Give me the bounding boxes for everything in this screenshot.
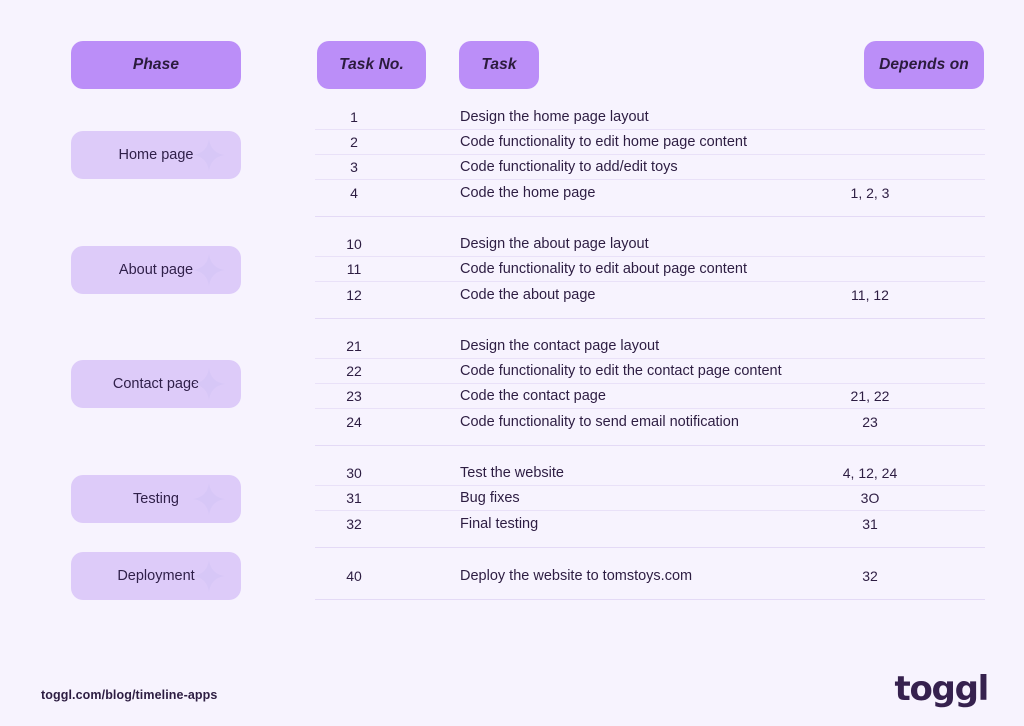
sparkle-icon <box>192 367 226 401</box>
group-divider <box>315 216 985 217</box>
sparkle-icon <box>192 253 226 287</box>
task-group: 40Deploy the website to tomstoys.com32 <box>315 563 985 588</box>
cell-task-no: 22 <box>315 363 405 379</box>
cell-task-no: 11 <box>315 261 405 277</box>
cell-task: Design the about page layout <box>405 236 810 252</box>
cell-depends-on: 3O <box>810 490 930 506</box>
table-row[interactable]: 3Code functionality to add/edit toys <box>315 155 985 180</box>
cell-task-no: 31 <box>315 490 405 506</box>
cell-task-no: 12 <box>315 287 405 303</box>
cell-task: Code the home page <box>405 185 810 201</box>
cell-task-no: 1 <box>315 109 405 125</box>
task-group: 21Design the contact page layout22Code f… <box>315 334 985 434</box>
sparkle-icon <box>192 482 226 516</box>
cell-task: Code functionality to edit home page con… <box>405 134 810 150</box>
cell-task: Code functionality to edit the contact p… <box>405 363 810 379</box>
cell-task: Final testing <box>405 516 810 532</box>
column-header-depends-on: Depends on <box>864 41 984 89</box>
task-group: 1Design the home page layout2Code functi… <box>315 105 985 205</box>
group-divider <box>315 547 985 548</box>
cell-task-no: 40 <box>315 568 405 584</box>
cell-task: Code the about page <box>405 287 810 303</box>
cell-task: Test the website <box>405 465 810 481</box>
cell-task-no: 23 <box>315 388 405 404</box>
table-row[interactable]: 30Test the website4, 12, 24 <box>315 461 985 486</box>
cell-task: Design the contact page layout <box>405 338 810 354</box>
source-url: toggl.com/blog/timeline-apps <box>41 688 217 702</box>
table-row[interactable]: 40Deploy the website to tomstoys.com32 <box>315 563 985 588</box>
cell-task-no: 3 <box>315 159 405 175</box>
cell-task-no: 32 <box>315 516 405 532</box>
table-row[interactable]: 10Design the about page layout <box>315 232 985 257</box>
cell-task-no: 30 <box>315 465 405 481</box>
phase-column: Home pageAbout pageContact pageTestingDe… <box>0 0 310 726</box>
group-divider <box>315 445 985 446</box>
column-header-task-no: Task No. <box>317 41 426 89</box>
table-row[interactable]: 2Code functionality to edit home page co… <box>315 130 985 155</box>
cell-task-no: 10 <box>315 236 405 252</box>
task-group: 30Test the website4, 12, 2431Bug fixes3O… <box>315 461 985 536</box>
cell-depends-on: 11, 12 <box>810 287 930 303</box>
cell-task: Code functionality to edit about page co… <box>405 261 810 277</box>
cell-depends-on: 1, 2, 3 <box>810 185 930 201</box>
table-row[interactable]: 23Code the contact page21, 22 <box>315 384 985 409</box>
cell-task: Design the home page layout <box>405 109 810 125</box>
task-group: 10Design the about page layout11Code fun… <box>315 232 985 307</box>
table-row[interactable]: 32Final testing31 <box>315 511 985 536</box>
table-row[interactable]: 4Code the home page1, 2, 3 <box>315 180 985 205</box>
table-row[interactable]: 1Design the home page layout <box>315 105 985 130</box>
cell-task: Code functionality to add/edit toys <box>405 159 810 175</box>
table-row[interactable]: 31Bug fixes3O <box>315 486 985 511</box>
cell-task-no: 4 <box>315 185 405 201</box>
cell-task: Code the contact page <box>405 388 810 404</box>
cell-task: Deploy the website to tomstoys.com <box>405 568 810 584</box>
group-divider <box>315 318 985 319</box>
cell-depends-on: 31 <box>810 516 930 532</box>
table-row[interactable]: 12Code the about page11, 12 <box>315 282 985 307</box>
cell-task: Code functionality to send email notific… <box>405 414 810 430</box>
sparkle-icon <box>192 138 226 172</box>
timeline-table-page: Phase Task No. Task Depends on Home page… <box>0 0 1024 726</box>
cell-depends-on: 32 <box>810 568 930 584</box>
sparkle-icon <box>192 559 226 593</box>
column-header-task: Task <box>459 41 539 89</box>
table-row[interactable]: 22Code functionality to edit the contact… <box>315 359 985 384</box>
table-row[interactable]: 11Code functionality to edit about page … <box>315 257 985 282</box>
cell-task: Bug fixes <box>405 490 810 506</box>
table-row[interactable]: 24Code functionality to send email notif… <box>315 409 985 434</box>
cell-depends-on: 23 <box>810 414 930 430</box>
table-row[interactable]: 21Design the contact page layout <box>315 334 985 359</box>
cell-task-no: 2 <box>315 134 405 150</box>
cell-depends-on: 21, 22 <box>810 388 930 404</box>
cell-task-no: 24 <box>315 414 405 430</box>
cell-task-no: 21 <box>315 338 405 354</box>
cell-depends-on: 4, 12, 24 <box>810 465 930 481</box>
toggl-logo: toggl <box>895 672 988 706</box>
group-divider <box>315 599 985 600</box>
